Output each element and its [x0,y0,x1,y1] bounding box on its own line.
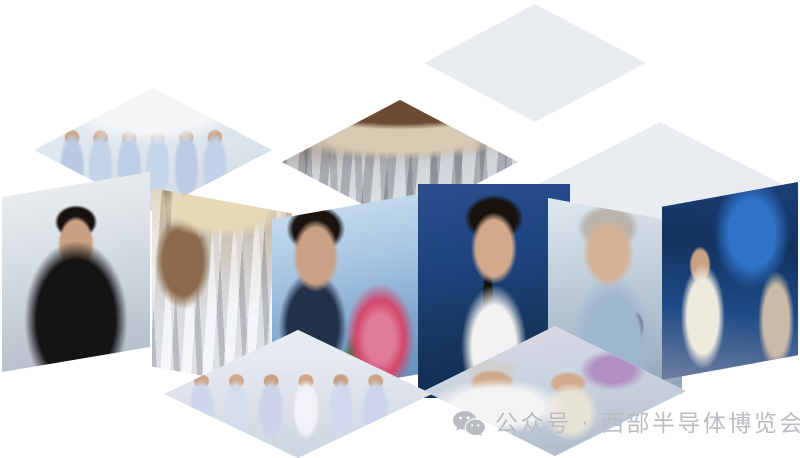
collage-tile-man-black[interactable] [2,172,150,372]
collage-canvas: 公众号 · 西部半导体博览会 [0,0,800,457]
photo-booth-blue [662,182,798,380]
photo-man-black [2,172,150,372]
collage-tile-top-podium[interactable] [424,4,646,122]
photo-top-podium [424,4,646,122]
collage-tile-booth-blue[interactable] [662,182,798,380]
